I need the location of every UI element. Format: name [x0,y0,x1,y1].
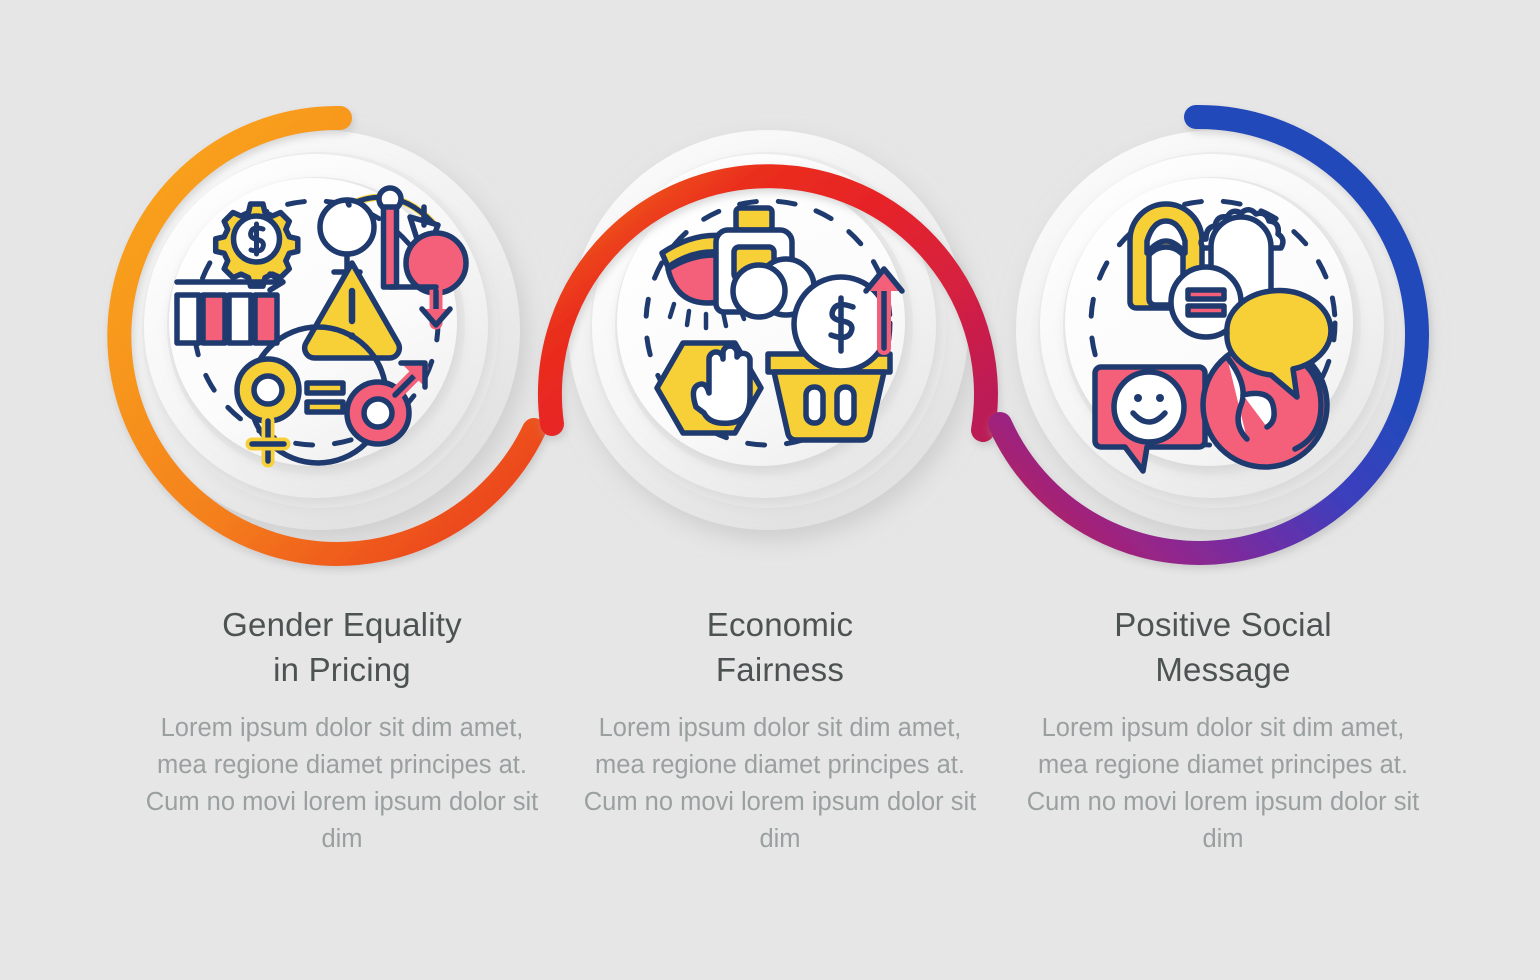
step-3-title: Positive Social Message [1003,602,1443,692]
step-2-description: Lorem ipsum dolor sit dim amet, mea regi… [560,710,1000,858]
step-2-text-block: Economic Fairness Lorem ipsum dolor sit … [560,602,1000,858]
step-3-description: Lorem ipsum dolor sit dim amet, mea regi… [1003,710,1443,858]
positive-social-message-icon [995,95,1435,565]
step-card-2[interactable]: Economic Fairness Lorem ipsum dolor sit … [550,0,990,980]
step-card-3[interactable]: Positive Social Message Lorem ipsum dolo… [995,0,1435,980]
stop-hand-hexagon-icon [657,343,761,433]
gender-equality-pricing-icon [100,95,540,565]
smiley-chat-bubble-icon [1095,367,1205,471]
step-3-icon-area [995,95,1435,565]
step-3-text-block: Positive Social Message Lorem ipsum dolo… [1003,602,1443,858]
economic-fairness-icon [550,95,990,565]
step-2-title: Economic Fairness [560,602,1000,692]
step-card-1[interactable]: Gender Equality in Pricing Lorem ipsum d… [100,0,540,980]
step-1-icon-area [100,95,540,565]
step-1-text-block: Gender Equality in Pricing Lorem ipsum d… [122,602,562,858]
dollar-gear-icon [216,204,298,286]
declining-bar-chart-icon [177,274,283,343]
step-1-title: Gender Equality in Pricing [122,602,562,692]
step-2-icon-area [550,95,990,565]
infographic-canvas: Gender Equality in Pricing Lorem ipsum d… [0,0,1540,980]
step-1-description: Lorem ipsum dolor sit dim amet, mea regi… [122,710,562,858]
